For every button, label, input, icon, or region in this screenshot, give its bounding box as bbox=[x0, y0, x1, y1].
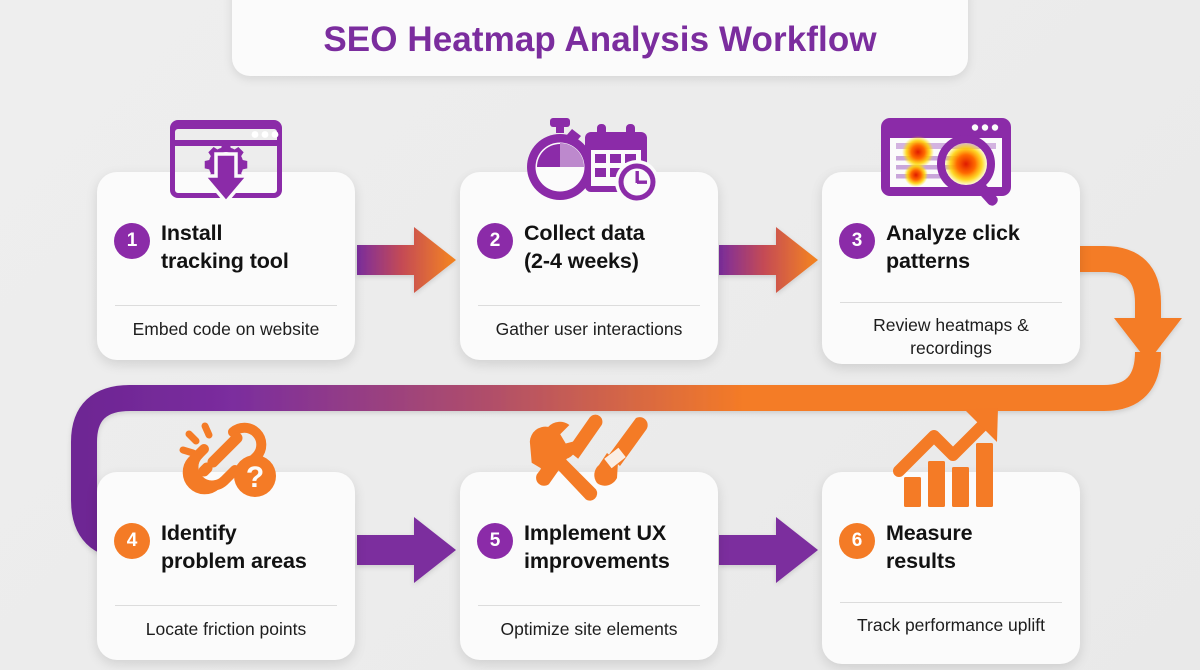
step-title-1: Install tracking tool bbox=[161, 220, 289, 275]
step-card-6[interactable]: 6 Measure results Track performance upli… bbox=[822, 472, 1080, 664]
step-title-line2: tracking tool bbox=[161, 248, 289, 276]
step-caption-3: Review heatmaps & recordings bbox=[834, 314, 1068, 360]
step-badge-4: 4 bbox=[114, 523, 150, 559]
step-header-4: 4 Identify problem areas bbox=[114, 520, 341, 575]
step-badge-2: 2 bbox=[477, 223, 513, 259]
step-badge-3: 3 bbox=[839, 223, 875, 259]
step-title-line1: Measure bbox=[886, 520, 973, 548]
step-caption-1: Embed code on website bbox=[109, 318, 343, 341]
step-badge-6: 6 bbox=[839, 523, 875, 559]
step-header-3: 3 Analyze click patterns bbox=[839, 220, 1066, 275]
step-title-line1: Analyze click bbox=[886, 220, 1020, 248]
card-divider bbox=[840, 602, 1062, 603]
step-caption-6: Track performance uplift bbox=[834, 614, 1068, 637]
arrow-step4-to-step5 bbox=[357, 517, 456, 583]
step-title-line2: results bbox=[886, 548, 973, 576]
card-divider bbox=[115, 605, 337, 606]
step-caption-5: Optimize site elements bbox=[472, 618, 706, 641]
step-card-1[interactable]: 1 Install tracking tool Embed code on we… bbox=[97, 172, 355, 360]
step-badge-1: 1 bbox=[114, 223, 150, 259]
step-header-6: 6 Measure results bbox=[839, 520, 1066, 575]
step-title-line1: Collect data bbox=[524, 220, 645, 248]
step-caption-4: Locate friction points bbox=[109, 618, 343, 641]
step-title-line1: Install bbox=[161, 220, 289, 248]
step-card-4[interactable]: ? 4 Identify problem areas Locate fricti… bbox=[97, 472, 355, 660]
card-divider bbox=[840, 302, 1062, 303]
step-card-2[interactable]: 2 Collect data (2-4 weeks) Gather user i… bbox=[460, 172, 718, 360]
step-title-line2: patterns bbox=[886, 248, 1020, 276]
step-caption-2: Gather user interactions bbox=[472, 318, 706, 341]
step-card-5[interactable]: 5 Implement UX improvements Optimize sit… bbox=[460, 472, 718, 660]
arrow-step1-to-step2 bbox=[357, 227, 456, 293]
step-title-5: Implement UX improvements bbox=[524, 520, 670, 575]
arrow-step2-to-step3 bbox=[719, 227, 818, 293]
workflow-diagram: SEO Heatmap Analysis Workflow bbox=[0, 0, 1200, 670]
step-card-3[interactable]: 3 Analyze click patterns Review heatmaps… bbox=[822, 172, 1080, 364]
step-title-line1: Identify bbox=[161, 520, 307, 548]
step-header-1: 1 Install tracking tool bbox=[114, 220, 341, 275]
step-title-3: Analyze click patterns bbox=[886, 220, 1020, 275]
step-header-5: 5 Implement UX improvements bbox=[477, 520, 704, 575]
step-header-2: 2 Collect data (2-4 weeks) bbox=[477, 220, 704, 275]
arrow-step5-to-step6 bbox=[719, 517, 818, 583]
card-divider bbox=[478, 305, 700, 306]
step-title-4: Identify problem areas bbox=[161, 520, 307, 575]
step-title-line1: Implement UX bbox=[524, 520, 670, 548]
step-title-line2: problem areas bbox=[161, 548, 307, 576]
card-divider bbox=[115, 305, 337, 306]
card-divider bbox=[478, 605, 700, 606]
step-title-line2: improvements bbox=[524, 548, 670, 576]
step-title-2: Collect data (2-4 weeks) bbox=[524, 220, 645, 275]
step-badge-5: 5 bbox=[477, 523, 513, 559]
step-title-6: Measure results bbox=[886, 520, 973, 575]
step-title-line2: (2-4 weeks) bbox=[524, 248, 645, 276]
